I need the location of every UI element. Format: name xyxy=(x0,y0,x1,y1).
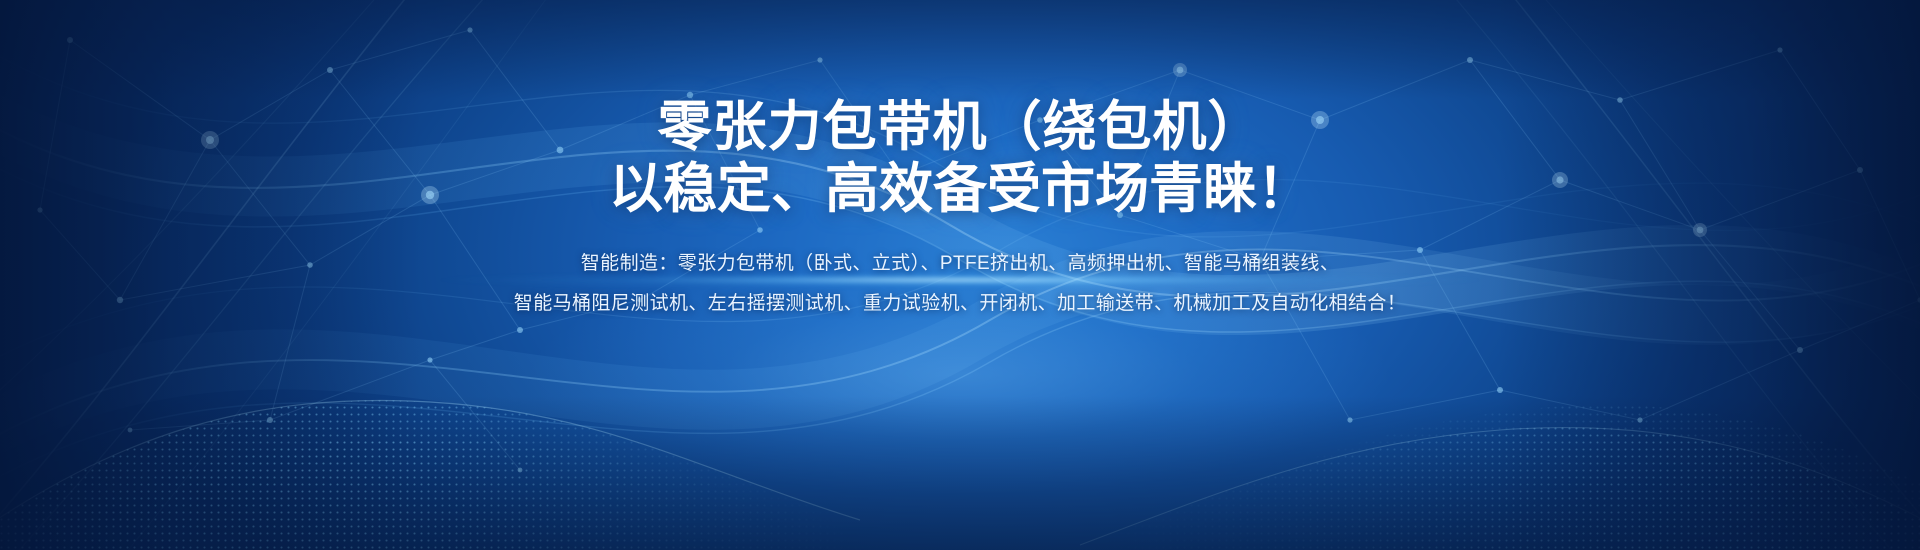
headline-line-1: 零张力包带机（绕包机） xyxy=(0,96,1920,158)
subheadline-line-1: 智能制造：零张力包带机（卧式、立式）、PTFE挤出机、高频押出机、智能马桶组装线… xyxy=(0,244,1920,284)
hero-banner: 零张力包带机（绕包机） 以稳定、高效备受市场青睐！ 智能制造：零张力包带机（卧式… xyxy=(0,0,1920,550)
banner-headline: 零张力包带机（绕包机） 以稳定、高效备受市场青睐！ xyxy=(0,96,1920,220)
banner-subheadline: 智能制造：零张力包带机（卧式、立式）、PTFE挤出机、高频押出机、智能马桶组装线… xyxy=(0,244,1920,324)
banner-content: 零张力包带机（绕包机） 以稳定、高效备受市场青睐！ 智能制造：零张力包带机（卧式… xyxy=(0,96,1920,324)
headline-line-2: 以稳定、高效备受市场青睐！ xyxy=(0,158,1920,220)
subheadline-line-2: 智能马桶阻尼测试机、左右摇摆测试机、重力试验机、开闭机、加工输送带、机械加工及自… xyxy=(0,284,1920,324)
